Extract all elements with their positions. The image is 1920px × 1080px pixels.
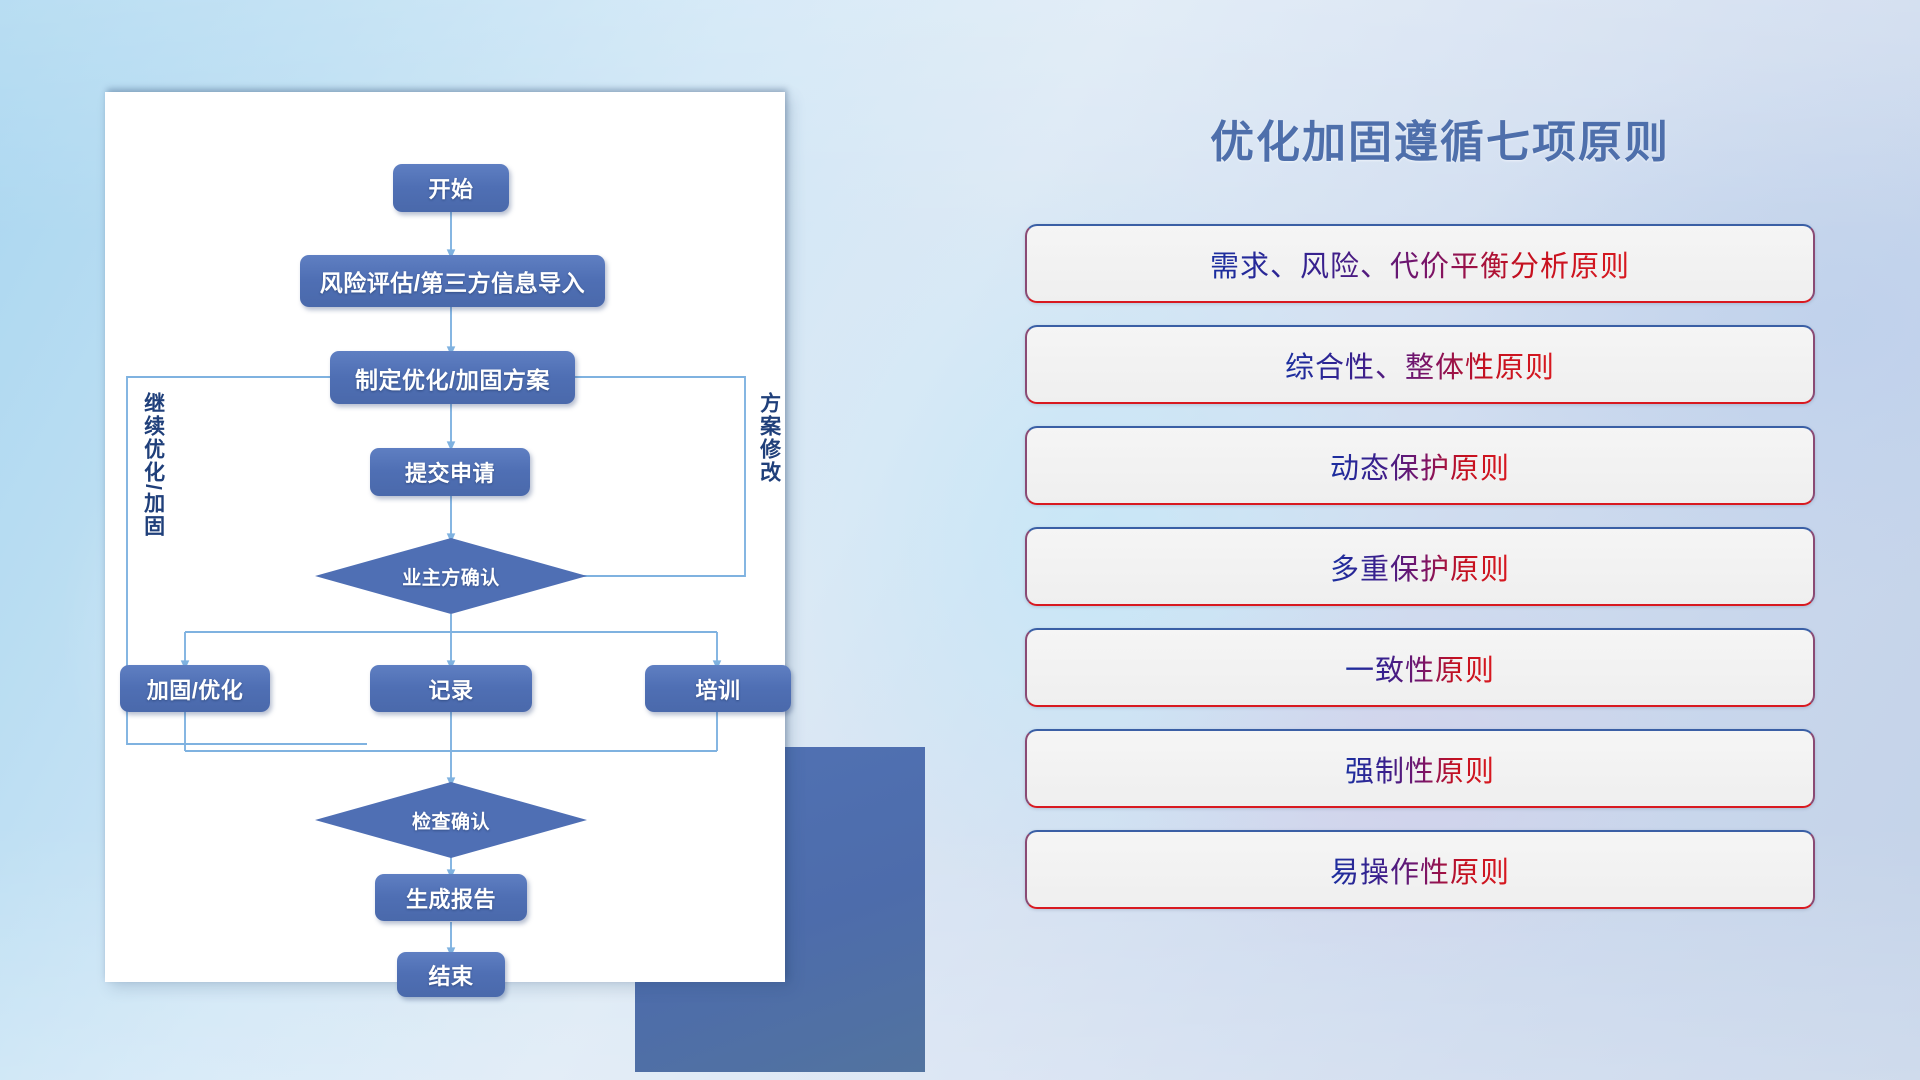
flow-node-reinforce[interactable]: 加固/优化 xyxy=(120,665,270,712)
flow-node-label: 开始 xyxy=(428,172,473,204)
principle-card-4[interactable]: 多重保护原则 xyxy=(1025,527,1815,606)
principle-label: 动态保护原则 xyxy=(1330,445,1510,487)
principle-label: 一致性原则 xyxy=(1345,647,1495,689)
flow-node-plan[interactable]: 制定优化/加固方案 xyxy=(330,351,575,404)
flow-node-record[interactable]: 记录 xyxy=(370,665,532,712)
flow-node-submit-application[interactable]: 提交申请 xyxy=(370,448,530,496)
flow-node-generate-report[interactable]: 生成报告 xyxy=(375,874,527,921)
flow-node-risk-assessment[interactable]: 风险评估/第三方信息导入 xyxy=(300,255,605,307)
flow-node-label: 提交申请 xyxy=(405,456,495,488)
principle-card-5[interactable]: 一致性原则 xyxy=(1025,628,1815,707)
principle-card-2[interactable]: 综合性、整体性原则 xyxy=(1025,325,1815,404)
principle-card-7[interactable]: 易操作性原则 xyxy=(1025,830,1815,909)
flow-node-end[interactable]: 结束 xyxy=(397,952,505,997)
principles-panel: 优化加固遵循七项原则 需求、风险、代价平衡分析原则 综合性、整体性原则 动态保护… xyxy=(1020,92,1860,1022)
flow-node-label: 制定优化/加固方案 xyxy=(355,361,550,395)
flow-node-training[interactable]: 培训 xyxy=(645,665,791,712)
flow-node-label: 业主方确认 xyxy=(402,563,500,590)
principle-card-1[interactable]: 需求、风险、代价平衡分析原则 xyxy=(1025,224,1815,303)
principle-label: 多重保护原则 xyxy=(1330,546,1510,588)
flowchart-panel: 开始 风险评估/第三方信息导入 制定优化/加固方案 提交申请 业主方确认 加固/… xyxy=(105,92,795,972)
principle-label: 易操作性原则 xyxy=(1330,849,1510,891)
flow-node-start[interactable]: 开始 xyxy=(393,164,509,212)
flow-edge-label-plan-revision: 方案修改 xyxy=(757,392,780,484)
principle-card-3[interactable]: 动态保护原则 xyxy=(1025,426,1815,505)
principle-label: 强制性原则 xyxy=(1345,748,1495,790)
flow-edge-label-continue-optimize: 继续优化/加固 xyxy=(141,392,164,538)
flow-node-label: 培训 xyxy=(695,673,740,705)
flow-node-label: 生成报告 xyxy=(406,882,496,914)
principles-list: 需求、风险、代价平衡分析原则 综合性、整体性原则 动态保护原则 多重保护原则 一… xyxy=(1025,224,1815,931)
principle-card-6[interactable]: 强制性原则 xyxy=(1025,729,1815,808)
flow-node-label: 记录 xyxy=(428,673,473,705)
panel-title: 优化加固遵循七项原则 xyxy=(1020,106,1860,170)
flow-node-check-confirm[interactable]: 检查确认 xyxy=(315,782,587,858)
principle-label: 综合性、整体性原则 xyxy=(1285,344,1555,386)
flow-node-owner-confirm[interactable]: 业主方确认 xyxy=(315,538,587,614)
flow-node-label: 加固/优化 xyxy=(147,673,244,705)
flow-node-label: 风险评估/第三方信息导入 xyxy=(320,264,585,298)
flow-node-label: 检查确认 xyxy=(412,807,490,834)
principle-label: 需求、风险、代价平衡分析原则 xyxy=(1210,243,1630,285)
flow-node-label: 结束 xyxy=(428,959,473,991)
